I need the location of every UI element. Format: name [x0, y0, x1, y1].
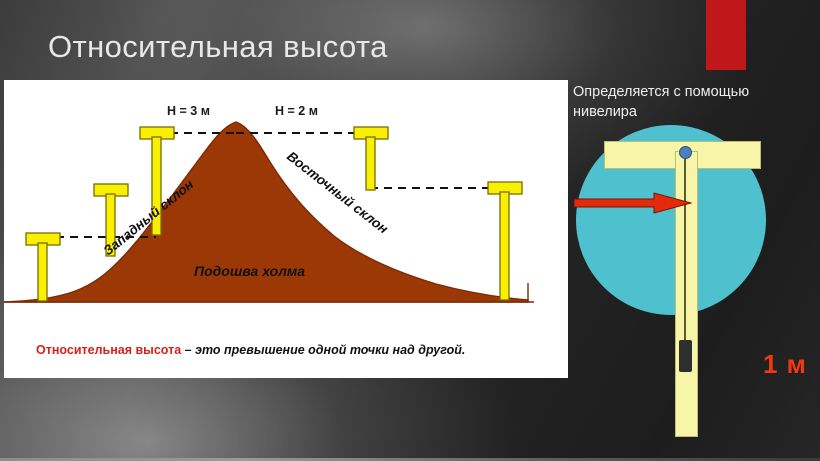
hill-diagram-panel: Западный склон Восточный склон Подошва х…: [4, 80, 568, 378]
level-pole-centerline: [684, 153, 686, 353]
label-height-west: H = 3 м: [167, 104, 210, 118]
staff-upper-east: [354, 127, 388, 190]
measure-label: 1 м: [763, 349, 807, 380]
slide-canvas: Относительная высота Определяется с помо…: [0, 0, 820, 461]
level-height-marker: [679, 340, 692, 372]
red-accent-rectangle: [706, 0, 746, 70]
diagram-caption: Относительная высота – это превышение од…: [36, 343, 465, 357]
diagram-caption-rest: – это превышение одной точки над другой.: [181, 343, 465, 357]
hill-diagram-svg: Западный склон Восточный склон Подошва х…: [4, 80, 568, 378]
label-height-east: H = 2 м: [275, 104, 318, 118]
level-bubble-dot: [679, 146, 692, 159]
nivelir-illustration: [576, 125, 766, 435]
red-arrow-icon: [574, 192, 692, 214]
nivelir-caption: Определяется с помощью нивелира: [573, 83, 813, 122]
page-title: Относительная высота: [48, 29, 388, 65]
staff-far-west: [26, 233, 60, 301]
diagram-caption-term: Относительная высота: [36, 343, 181, 357]
staff-far-east: [488, 182, 522, 300]
label-hill-base: Подошва холма: [194, 263, 305, 279]
